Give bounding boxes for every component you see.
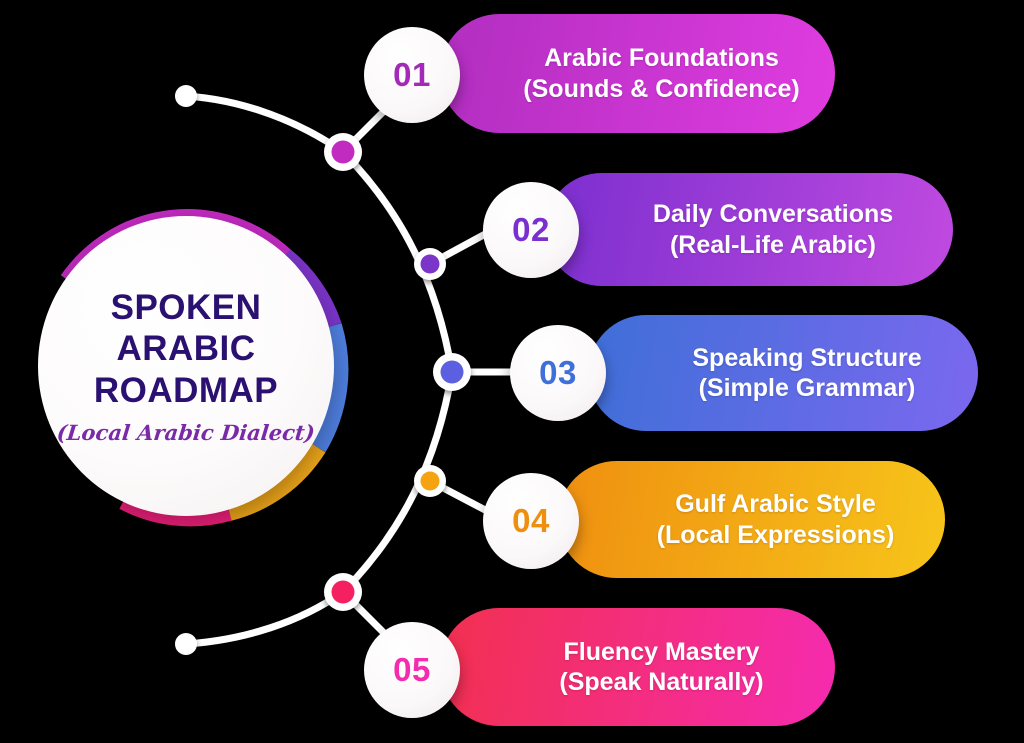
step-03-pill[interactable]: Speaking Structure (Simple Grammar): [588, 315, 978, 431]
hub-title-line-3: ROADMAP: [94, 370, 278, 411]
end-cap-top-icon: [175, 85, 197, 107]
step-03-title: Speaking Structure: [692, 343, 921, 374]
hub-circle: SPOKEN ARABIC ROADMAP (Local Arabic Dial…: [22, 195, 358, 540]
step-05-text: Fluency Mastery (Speak Naturally): [501, 637, 773, 698]
connector-tail-top: [186, 96, 343, 152]
step-02-subtitle: (Real-Life Arabic): [653, 230, 893, 261]
node-dot-5: [324, 573, 362, 611]
step-02-badge[interactable]: 02: [483, 182, 579, 278]
step-02-pill[interactable]: Daily Conversations (Real-Life Arabic): [545, 173, 953, 286]
connector-tail-bottom: [186, 592, 343, 644]
node-dot-3: [433, 353, 471, 391]
node-dot-4: [414, 465, 446, 497]
step-01-subtitle: (Sounds & Confidence): [523, 74, 799, 105]
connector-spoke-4: [430, 481, 489, 512]
step-04-badge[interactable]: 04: [483, 473, 579, 569]
step-02-number: 02: [512, 211, 550, 249]
step-05-pill[interactable]: Fluency Mastery (Speak Naturally): [440, 608, 835, 726]
step-02-title: Daily Conversations: [653, 199, 893, 230]
node-dot-1: [324, 133, 362, 171]
step-04-pill[interactable]: Gulf Arabic Style (Local Expressions): [558, 461, 945, 578]
connector-spoke-1: [343, 112, 383, 152]
hub-title-line-1: SPOKEN: [111, 287, 262, 328]
hub-face: SPOKEN ARABIC ROADMAP (Local Arabic Dial…: [38, 216, 334, 516]
step-05-title: Fluency Mastery: [559, 637, 763, 668]
hub-subtitle: (Local Arabic Dialect): [56, 420, 316, 445]
connector-main-arc: [343, 152, 452, 592]
end-cap-bottom-icon: [175, 633, 197, 655]
step-03-badge[interactable]: 03: [510, 325, 606, 421]
step-05-badge[interactable]: 05: [364, 622, 460, 718]
step-04-text: Gulf Arabic Style (Local Expressions): [599, 489, 905, 550]
step-01-pill[interactable]: Arabic Foundations (Sounds & Confidence): [440, 14, 835, 133]
hub-title-line-2: ARABIC: [116, 328, 255, 369]
step-02-text: Daily Conversations (Real-Life Arabic): [595, 199, 903, 260]
connector-spoke-5: [343, 592, 383, 632]
step-01-number: 01: [393, 56, 431, 94]
step-03-number: 03: [539, 354, 577, 392]
step-03-subtitle: (Simple Grammar): [692, 373, 921, 404]
step-04-number: 04: [512, 502, 550, 540]
step-01-badge[interactable]: 01: [364, 27, 460, 123]
step-05-subtitle: (Speak Naturally): [559, 667, 763, 698]
step-04-subtitle: (Local Expressions): [657, 520, 895, 551]
step-03-text: Speaking Structure (Simple Grammar): [634, 343, 931, 404]
step-05-number: 05: [393, 651, 431, 689]
connector-spoke-2: [430, 232, 489, 264]
step-01-title: Arabic Foundations: [523, 43, 799, 74]
step-01-text: Arabic Foundations (Sounds & Confidence): [465, 43, 809, 104]
infographic-canvas: SPOKEN ARABIC ROADMAP (Local Arabic Dial…: [0, 0, 1024, 743]
node-dot-2: [414, 248, 446, 280]
step-04-title: Gulf Arabic Style: [657, 489, 895, 520]
